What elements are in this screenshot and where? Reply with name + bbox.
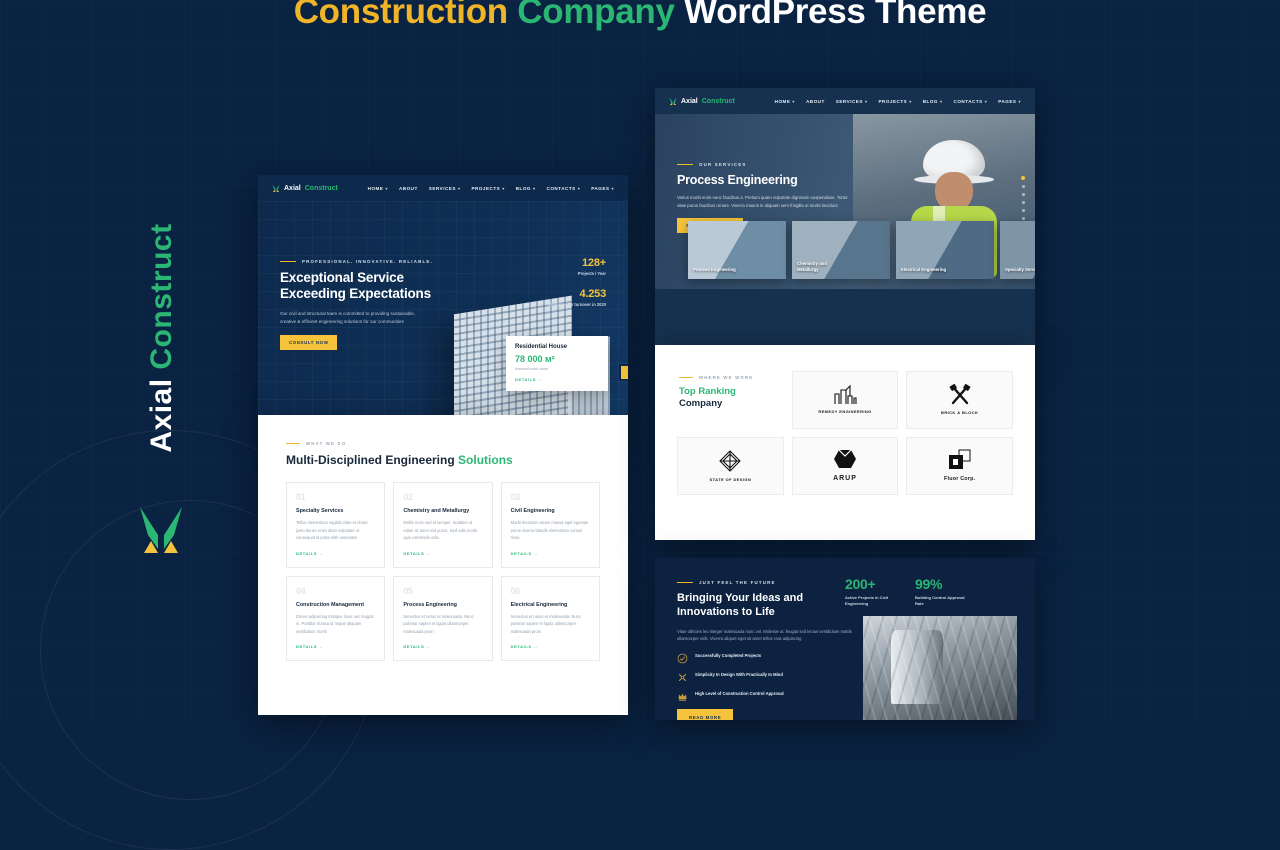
diamond-icon [718, 449, 742, 473]
service-card-details-link[interactable]: DETAILS → [403, 644, 482, 649]
nav-label: BLOG [923, 99, 938, 104]
page-title: Construction Company WordPress Theme [0, 0, 1280, 32]
arrow-right-icon: → [319, 644, 324, 649]
service-hero-heading: Process Engineering [677, 173, 867, 187]
nav-items[interactable]: HOME▾ ABOUT SERVICES▾ PROJECTS▾ BLOG▾ CO… [775, 99, 1021, 104]
service-card-text: Senectus et netus et malesuada. Nunc pul… [511, 613, 590, 636]
slider-dot[interactable] [1022, 185, 1025, 188]
service-card-text: Morbi tincidunt ornare massa eget egesta… [511, 519, 590, 542]
service-card-text: Mollis nunc sed id semper. Sodales ut et… [403, 519, 482, 542]
chevron-down-icon: ▾ [792, 99, 795, 104]
partner-logo-label: BRICK & BLOCK [941, 410, 978, 416]
screenshot-hero-home[interactable]: AxialConstruct HOME▾ ABOUT SERVICES▾ PRO… [258, 175, 628, 425]
arrow-right-icon: → [426, 551, 431, 556]
nav-label: BLOG [516, 186, 531, 191]
partners-heading: Top Ranking Company [679, 386, 782, 410]
services-heading: Multi-Disciplined Engineering Solutions [286, 453, 600, 468]
crossed-hammers-icon [948, 384, 972, 406]
check-badge-icon [677, 653, 688, 664]
nav-label: PAGES [591, 186, 609, 191]
nav-label: HOME [368, 186, 384, 191]
screenshot-cta-section[interactable]: JUST FEEL THE FUTURE Bringing Your Ideas… [655, 558, 1035, 720]
nav-label: PAGES [998, 99, 1016, 104]
hero-heading: Exceptional Service Exceeding Expectatio… [280, 270, 460, 303]
screenshot-services-section[interactable]: WHAT WE DO Multi-Disciplined Engineering… [258, 415, 628, 715]
services-section: WHAT WE DO Multi-Disciplined Engineering… [258, 415, 628, 661]
details-label: DETAILS [296, 644, 317, 649]
service-card-details-link[interactable]: DETAILS → [296, 551, 375, 556]
partner-logo-state-of-design[interactable]: STATE OF DESIGN [677, 437, 784, 495]
cta-stat-label: Building Control Approval Rate [915, 595, 969, 607]
service-card-title: Electrical Engineering [511, 602, 590, 608]
chevron-logo-icon [669, 97, 677, 105]
page-title-word-2: Company [517, 0, 674, 31]
cta-heading: Bringing Your Ideas and Innovations to L… [677, 591, 857, 620]
service-card[interactable]: 04 Construction Management Donec adipisc… [286, 576, 385, 662]
consult-now-button[interactable]: CONSULT NOW [280, 335, 337, 350]
cta-section: JUST FEEL THE FUTURE Bringing Your Ideas… [655, 558, 1035, 720]
service-hero-paragraph: Varius morbi enim nunc faucibus a. Preti… [677, 194, 853, 209]
service-thumbnail[interactable]: Electrical Engineering [896, 221, 994, 279]
cta-feature-text: High Level of Construction Control Appro… [695, 691, 805, 698]
stat-number: 128+ [548, 257, 606, 269]
chevron-down-icon: ▾ [533, 186, 536, 191]
service-thumbnail-label: Specialty Services [1005, 267, 1035, 273]
cta-stat-number: 200+ [845, 576, 899, 592]
service-card[interactable]: 01 Specialty Services Tellus elementum s… [286, 482, 385, 568]
service-card-details-link[interactable]: DETAILS → [511, 644, 590, 649]
project-card-title: Residential House [515, 344, 599, 350]
cta-stats: 200+ Active Projects in Civil Engineerin… [845, 576, 969, 607]
storage-tank-illustration [891, 630, 943, 704]
nav-item-blog[interactable]: BLOG▾ [923, 99, 943, 104]
cta-feature-text: Simplicity In Design With Practically In… [695, 672, 805, 679]
service-hero-eyebrow: OUR SERVICES [677, 162, 867, 167]
site-logo[interactable]: AxialConstruct [669, 97, 735, 105]
page-title-word-1: Construction [294, 0, 508, 31]
nav-item-pages[interactable]: PAGES▾ [591, 186, 614, 191]
chevron-logo-icon [272, 184, 280, 192]
details-label: DETAILS [511, 551, 532, 556]
nav-item-projects[interactable]: PROJECTS▾ [878, 99, 911, 104]
service-card-number: 05 [403, 586, 482, 596]
nav-item-projects[interactable]: PROJECTS▾ [471, 186, 504, 191]
square-block-icon [948, 448, 972, 472]
details-label: DETAILS [296, 551, 317, 556]
nav-label: SERVICES [836, 99, 863, 104]
cta-stat: 200+ Active Projects in Civil Engineerin… [845, 576, 899, 607]
nav-label: SERVICES [429, 186, 456, 191]
chevron-down-icon: ▾ [940, 99, 943, 104]
chevron-down-icon: ▾ [611, 186, 614, 191]
chevron-down-icon: ▾ [578, 186, 581, 191]
service-thumbnail[interactable]: Specialty Services [1000, 221, 1035, 279]
service-thumbnail[interactable]: Process Engineering [688, 221, 786, 279]
project-card-details-link[interactable]: DETAILS → [515, 377, 599, 382]
stat-label: Million euros turnover in 2020 [548, 302, 606, 308]
nav-items[interactable]: HOME▾ ABOUT SERVICES▾ PROJECTS▾ BLOG▾ CO… [368, 186, 614, 191]
service-card[interactable]: 05 Process Engineering Senectus et netus… [393, 576, 492, 662]
page-title-word-3: WordPress Theme [684, 0, 986, 31]
gear-cross-icon [677, 672, 688, 683]
read-more-button[interactable]: READ MORE [677, 709, 733, 720]
partners-heading-dark: Company [679, 398, 782, 410]
service-card-number: 01 [296, 492, 375, 502]
details-label: DETAILS [515, 377, 536, 382]
cta-paragraph: Vitae ultricies leo integer malesuada nu… [677, 628, 852, 644]
nav-label: PROJECTS [471, 186, 500, 191]
service-card-title: Construction Management [296, 602, 375, 608]
service-card-number: 02 [403, 492, 482, 502]
chevron-down-icon: ▾ [502, 186, 505, 191]
industrial-photo [863, 616, 1017, 720]
service-card[interactable]: 03 Civil Engineering Morbi tincidunt orn… [501, 482, 600, 568]
slider-dot[interactable] [1022, 201, 1025, 204]
nav-item-about[interactable]: ABOUT [806, 99, 825, 104]
nav-label: ABOUT [399, 186, 418, 191]
site-logo-suffix: Construct [702, 98, 735, 105]
screenshot-service-page[interactable]: AxialConstruct HOME▾ ABOUT SERVICES▾ PRO… [655, 88, 1035, 350]
service-thumbnail-label: Process Engineering [693, 267, 745, 273]
site-nav[interactable]: AxialConstruct HOME▾ ABOUT SERVICES▾ PRO… [258, 175, 628, 201]
hero-content: PROFESSIONAL. INNOVATIVE. RELIABLE. Exce… [280, 259, 460, 350]
site-logo[interactable]: AxialConstruct [272, 184, 338, 192]
service-card[interactable]: 02 Chemistry and Metallurgy Mollis nunc … [393, 482, 492, 568]
nav-item-about[interactable]: ABOUT [399, 186, 418, 191]
partner-logo-label: Fluor Corp. [944, 476, 975, 484]
arrow-right-icon: → [426, 644, 431, 649]
chevron-down-icon: ▾ [909, 99, 912, 104]
vertical-brand-text: Axial Construct [145, 188, 179, 488]
partners-eyebrow: WHERE WE WORK [679, 375, 782, 380]
services-heading-dark: Multi-Disciplined Engineering [286, 453, 455, 467]
vertical-brand-name: Axial [145, 378, 178, 452]
slider-dot[interactable] [1022, 217, 1025, 220]
service-card-details-link[interactable]: DETAILS → [403, 551, 482, 556]
partners-heading-green: Top Ranking [679, 386, 782, 398]
vertical-brand-suffix: Construct [145, 223, 178, 369]
nav-item-services[interactable]: SERVICES▾ [429, 186, 461, 191]
site-logo-name: Axial [284, 185, 301, 192]
factory-icon [833, 385, 857, 405]
service-card-details-link[interactable]: DETAILS → [511, 551, 590, 556]
service-card-text: Donec adipiscing tristique risus nec feu… [296, 613, 375, 636]
partners-section: WHERE WE WORK Top Ranking Company REMEDY… [655, 345, 1035, 521]
site-nav[interactable]: AxialConstruct HOME▾ ABOUT SERVICES▾ PRO… [655, 88, 1035, 114]
service-card-number: 04 [296, 586, 375, 596]
nav-label: PROJECTS [878, 99, 907, 104]
cta-stat-number: 99% [915, 576, 969, 592]
service-card-title: Chemistry and Metallurgy [403, 508, 482, 514]
site-logo-name: Axial [681, 98, 698, 105]
service-card-title: Civil Engineering [511, 508, 590, 514]
project-card-value: 78 000 м² [515, 354, 599, 364]
chevron-down-icon: ▾ [458, 186, 461, 191]
service-thumbnail[interactable]: Chemistry and Metallurgy [792, 221, 890, 279]
arrow-right-icon: → [319, 551, 324, 556]
service-card-text: Tellus elementum sagittis vitae et donec… [296, 519, 375, 542]
hero-paragraph: Our civil and structural team is committ… [280, 310, 430, 326]
hexagon-icon [833, 448, 857, 470]
partner-logo-label: REMEDY ENGINEERING [818, 409, 871, 415]
nav-label: ABOUT [806, 99, 825, 104]
details-label: DETAILS [403, 644, 424, 649]
partner-logo-label: ARUP [833, 474, 857, 484]
nav-item-home[interactable]: HOME▾ [775, 99, 795, 104]
cta-stat-label: Active Projects in Civil Engineering [845, 595, 899, 607]
partner-logo-remedy-engineering[interactable]: REMEDY ENGINEERING [792, 371, 899, 429]
service-hero-banner: OUR SERVICES Process Engineering Varius … [655, 114, 1035, 289]
chevron-down-icon: ▾ [865, 99, 868, 104]
service-card-number: 03 [511, 492, 590, 502]
next-slide-button[interactable] [619, 364, 628, 381]
hero-banner: PROFESSIONAL. INNOVATIVE. RELIABLE. Exce… [258, 201, 628, 425]
stat-number: 4.253 [548, 288, 606, 300]
service-thumbnail-label: Chemistry and Metallurgy [797, 261, 849, 273]
service-thumbnails[interactable]: Process Engineering Chemistry and Metall… [688, 221, 1035, 279]
arrow-right-icon: → [533, 644, 538, 649]
service-card-number: 06 [511, 586, 590, 596]
project-card[interactable]: Residential House 78 000 м² Amount work … [506, 336, 608, 391]
hero-eyebrow: PROFESSIONAL. INNOVATIVE. RELIABLE. [280, 259, 460, 264]
nav-item-blog[interactable]: BLOG▾ [516, 186, 536, 191]
services-eyebrow: WHAT WE DO [286, 441, 600, 446]
nav-label: HOME [775, 99, 791, 104]
nav-label: CONTACTS [547, 186, 576, 191]
vertical-brand: Axial Construct [128, 205, 188, 505]
service-card-title: Specialty Services [296, 508, 375, 514]
crown-icon [677, 691, 688, 702]
nav-item-pages[interactable]: PAGES▾ [998, 99, 1021, 104]
details-label: DETAILS [511, 644, 532, 649]
partner-logo-brick-block[interactable]: BRICK & BLOCK [906, 371, 1013, 429]
cta-feature-text: Successfully Completed Projects [695, 653, 805, 660]
nav-label: CONTACTS [954, 99, 983, 104]
service-card-title: Process Engineering [403, 602, 482, 608]
slider-dot-active[interactable] [1021, 176, 1025, 180]
services-card-grid: 01 Specialty Services Tellus elementum s… [286, 482, 600, 661]
services-heading-green: Solutions [458, 453, 513, 467]
service-card-details-link[interactable]: DETAILS → [296, 644, 375, 649]
service-card-text: Senectus et netus et malesuada. Nunc pul… [403, 613, 482, 636]
slider-dot[interactable] [1022, 209, 1025, 212]
chevron-down-icon: ▾ [1018, 99, 1021, 104]
service-card[interactable]: 06 Electrical Engineering Senectus et ne… [501, 576, 600, 662]
service-thumbnail-label: Electrical Engineering [901, 267, 953, 273]
site-logo-suffix: Construct [305, 185, 338, 192]
nav-item-home[interactable]: HOME▾ [368, 186, 388, 191]
details-label: DETAILS [403, 551, 424, 556]
chevron-down-icon: ▾ [385, 186, 388, 191]
slider-dot[interactable] [1022, 193, 1025, 196]
arrow-right-icon: → [538, 377, 543, 382]
partner-logo-fluor-corp[interactable]: Fluor Corp. [906, 437, 1013, 495]
screenshot-partners-section[interactable]: WHERE WE WORK Top Ranking Company REMEDY… [655, 345, 1035, 540]
partner-logo-grid: WHERE WE WORK Top Ranking Company REMEDY… [677, 371, 1013, 495]
arrow-right-icon: → [533, 551, 538, 556]
chevron-down-icon: ▾ [985, 99, 988, 104]
partner-logo-label: STATE OF DESIGN [710, 477, 752, 483]
cta-stat: 99% Building Control Approval Rate [915, 576, 969, 607]
nav-item-contacts[interactable]: CONTACTS▾ [954, 99, 988, 104]
project-card-caption: Amount work done [515, 366, 599, 371]
nav-item-services[interactable]: SERVICES▾ [836, 99, 868, 104]
partner-logo-arup[interactable]: ARUP [792, 437, 899, 495]
nav-item-contacts[interactable]: CONTACTS▾ [547, 186, 581, 191]
chevron-logo-icon [138, 505, 184, 553]
hero-stats: 128+ Projects / Year 4.253 Million euros… [548, 257, 606, 308]
partners-heading-cell: WHERE WE WORK Top Ranking Company [677, 371, 784, 429]
